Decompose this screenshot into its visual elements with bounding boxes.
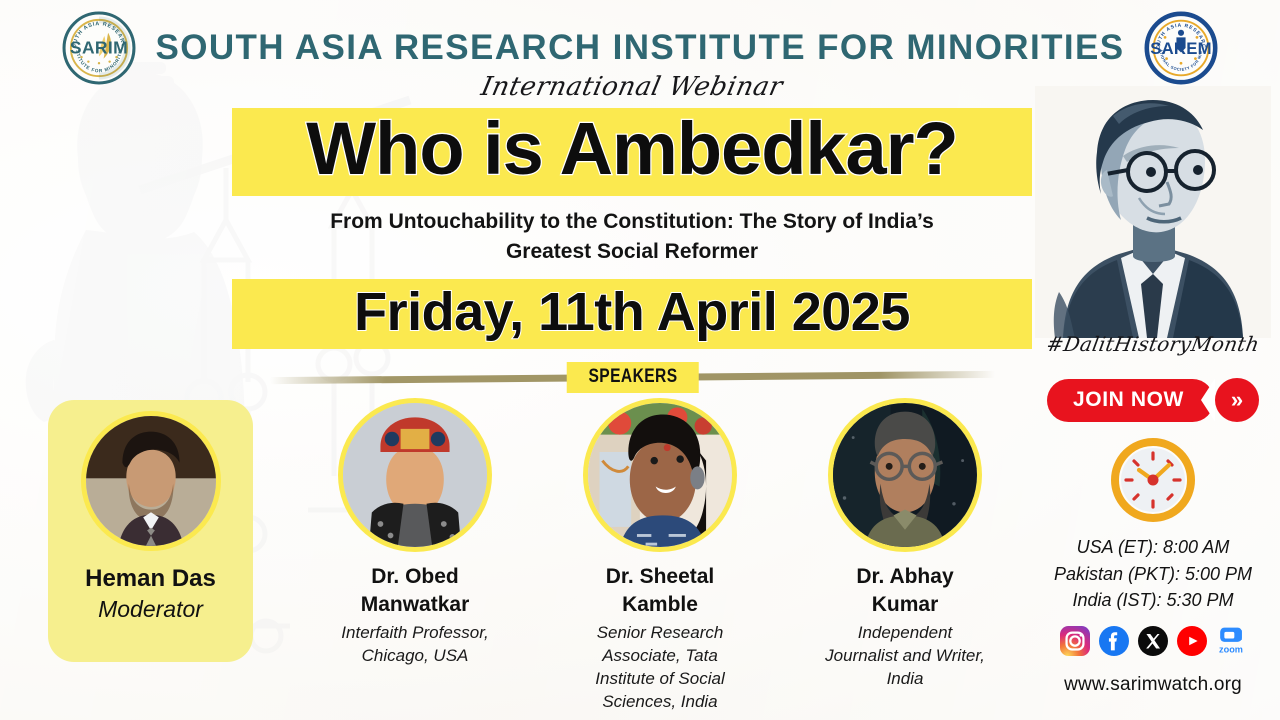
ambedkar-portrait-illustration xyxy=(1035,86,1271,338)
svg-text:zoom: zoom xyxy=(1219,645,1243,655)
moderator-role: Moderator xyxy=(98,596,203,623)
speaker-role: Senior Research Associate, Tata Institut… xyxy=(575,622,745,714)
hashtag-dalit-history-month: #DalitHistoryMonth xyxy=(1024,332,1280,356)
instagram-icon[interactable] xyxy=(1060,626,1090,656)
event-date: Friday, 11th April 2025 xyxy=(232,284,1032,341)
timezone-list: USA (ET): 8:00 AM Pakistan (PKT): 5:00 P… xyxy=(1026,534,1280,614)
speaker-card: Dr. Abhay Kumar Independent Journalist a… xyxy=(820,398,990,714)
speaker-avatar xyxy=(828,398,982,552)
event-subtitle-line2: Greatest Social Reformer xyxy=(232,237,1032,267)
speaker-name: Dr. Abhay Kumar xyxy=(820,563,990,618)
speaker-name-line2: Kumar xyxy=(820,591,990,619)
event-title: Who is Ambedkar? xyxy=(232,112,1032,186)
sidebar: #DalitHistoryMonth JOIN NOW » xyxy=(1026,86,1280,696)
moderator-name: Heman Das xyxy=(85,565,216,593)
speaker-role: Independent Journalist and Writer, India xyxy=(820,622,990,691)
speaker-avatar xyxy=(338,398,492,552)
event-subtitle: From Untouchability to the Constitution:… xyxy=(232,207,1032,267)
speakers-badge-label: SPEAKERS xyxy=(588,366,677,388)
moderator-card: Heman Das Moderator xyxy=(48,400,253,662)
timezone-india: India (IST): 5:30 PM xyxy=(1026,587,1280,614)
sarem-logo: SAREM SOUTH ASIA RESEARCH INTERNATIONAL … xyxy=(1143,10,1219,86)
webinar-poster: SARIM SOUTH ASIA RESEARCH INSTITUTE FOR … xyxy=(0,0,1280,720)
speaker-name-line1: Dr. Obed xyxy=(330,563,500,591)
speaker-name: Dr. Obed Manwatkar xyxy=(330,563,500,618)
event-kicker: International Webinar xyxy=(229,72,1035,102)
speaker-name-line1: Dr. Sheetal xyxy=(575,563,745,591)
speaker-name-line2: Manwatkar xyxy=(330,591,500,619)
speaker-avatar xyxy=(583,398,737,552)
sarim-logo: SARIM SOUTH ASIA RESEARCH INSTITUTE FOR … xyxy=(61,10,137,86)
page-title: SOUTH ASIA RESEARCH INSTITUTE FOR MINORI… xyxy=(155,28,1124,68)
join-now-button[interactable]: JOIN NOW xyxy=(1047,379,1214,422)
title-highlight-band: Who is Ambedkar? xyxy=(232,108,1032,196)
social-links: zoom xyxy=(1026,626,1280,656)
chevron-double-right-icon[interactable]: » xyxy=(1215,378,1259,422)
facebook-icon[interactable] xyxy=(1099,626,1129,656)
zoom-icon[interactable]: zoom xyxy=(1216,626,1246,656)
website-url: www.sarimwatch.org xyxy=(1026,674,1280,696)
timezone-pakistan: Pakistan (PKT): 5:00 PM xyxy=(1026,561,1280,588)
youtube-icon[interactable] xyxy=(1177,626,1207,656)
speakers-list: Dr. Obed Manwatkar Interfaith Professor,… xyxy=(330,398,990,714)
event-details: International Webinar Who is Ambedkar? F… xyxy=(232,72,1032,349)
date-highlight-band: Friday, 11th April 2025 xyxy=(232,279,1032,350)
speaker-name-line2: Kamble xyxy=(575,591,745,619)
speaker-role: Interfaith Professor, Chicago, USA xyxy=(330,622,500,668)
event-subtitle-line1: From Untouchability to the Constitution:… xyxy=(232,207,1032,237)
x-twitter-icon[interactable] xyxy=(1138,626,1168,656)
speaker-card: Dr. Sheetal Kamble Senior Research Assoc… xyxy=(575,398,745,714)
speakers-badge: SPEAKERS xyxy=(566,362,699,393)
speakers-divider: SPEAKERS xyxy=(270,362,995,396)
join-now-label: JOIN NOW xyxy=(1073,388,1184,411)
join-arrow-glyph: » xyxy=(1231,387,1243,413)
speaker-card: Dr. Obed Manwatkar Interfaith Professor,… xyxy=(330,398,500,714)
join-now-cta[interactable]: JOIN NOW » xyxy=(1026,378,1280,422)
speaker-name: Dr. Sheetal Kamble xyxy=(575,563,745,618)
clock-icon xyxy=(1111,438,1195,522)
moderator-avatar xyxy=(81,411,221,551)
speaker-name-line1: Dr. Abhay xyxy=(820,563,990,591)
timezone-usa: USA (ET): 8:00 AM xyxy=(1026,534,1280,561)
